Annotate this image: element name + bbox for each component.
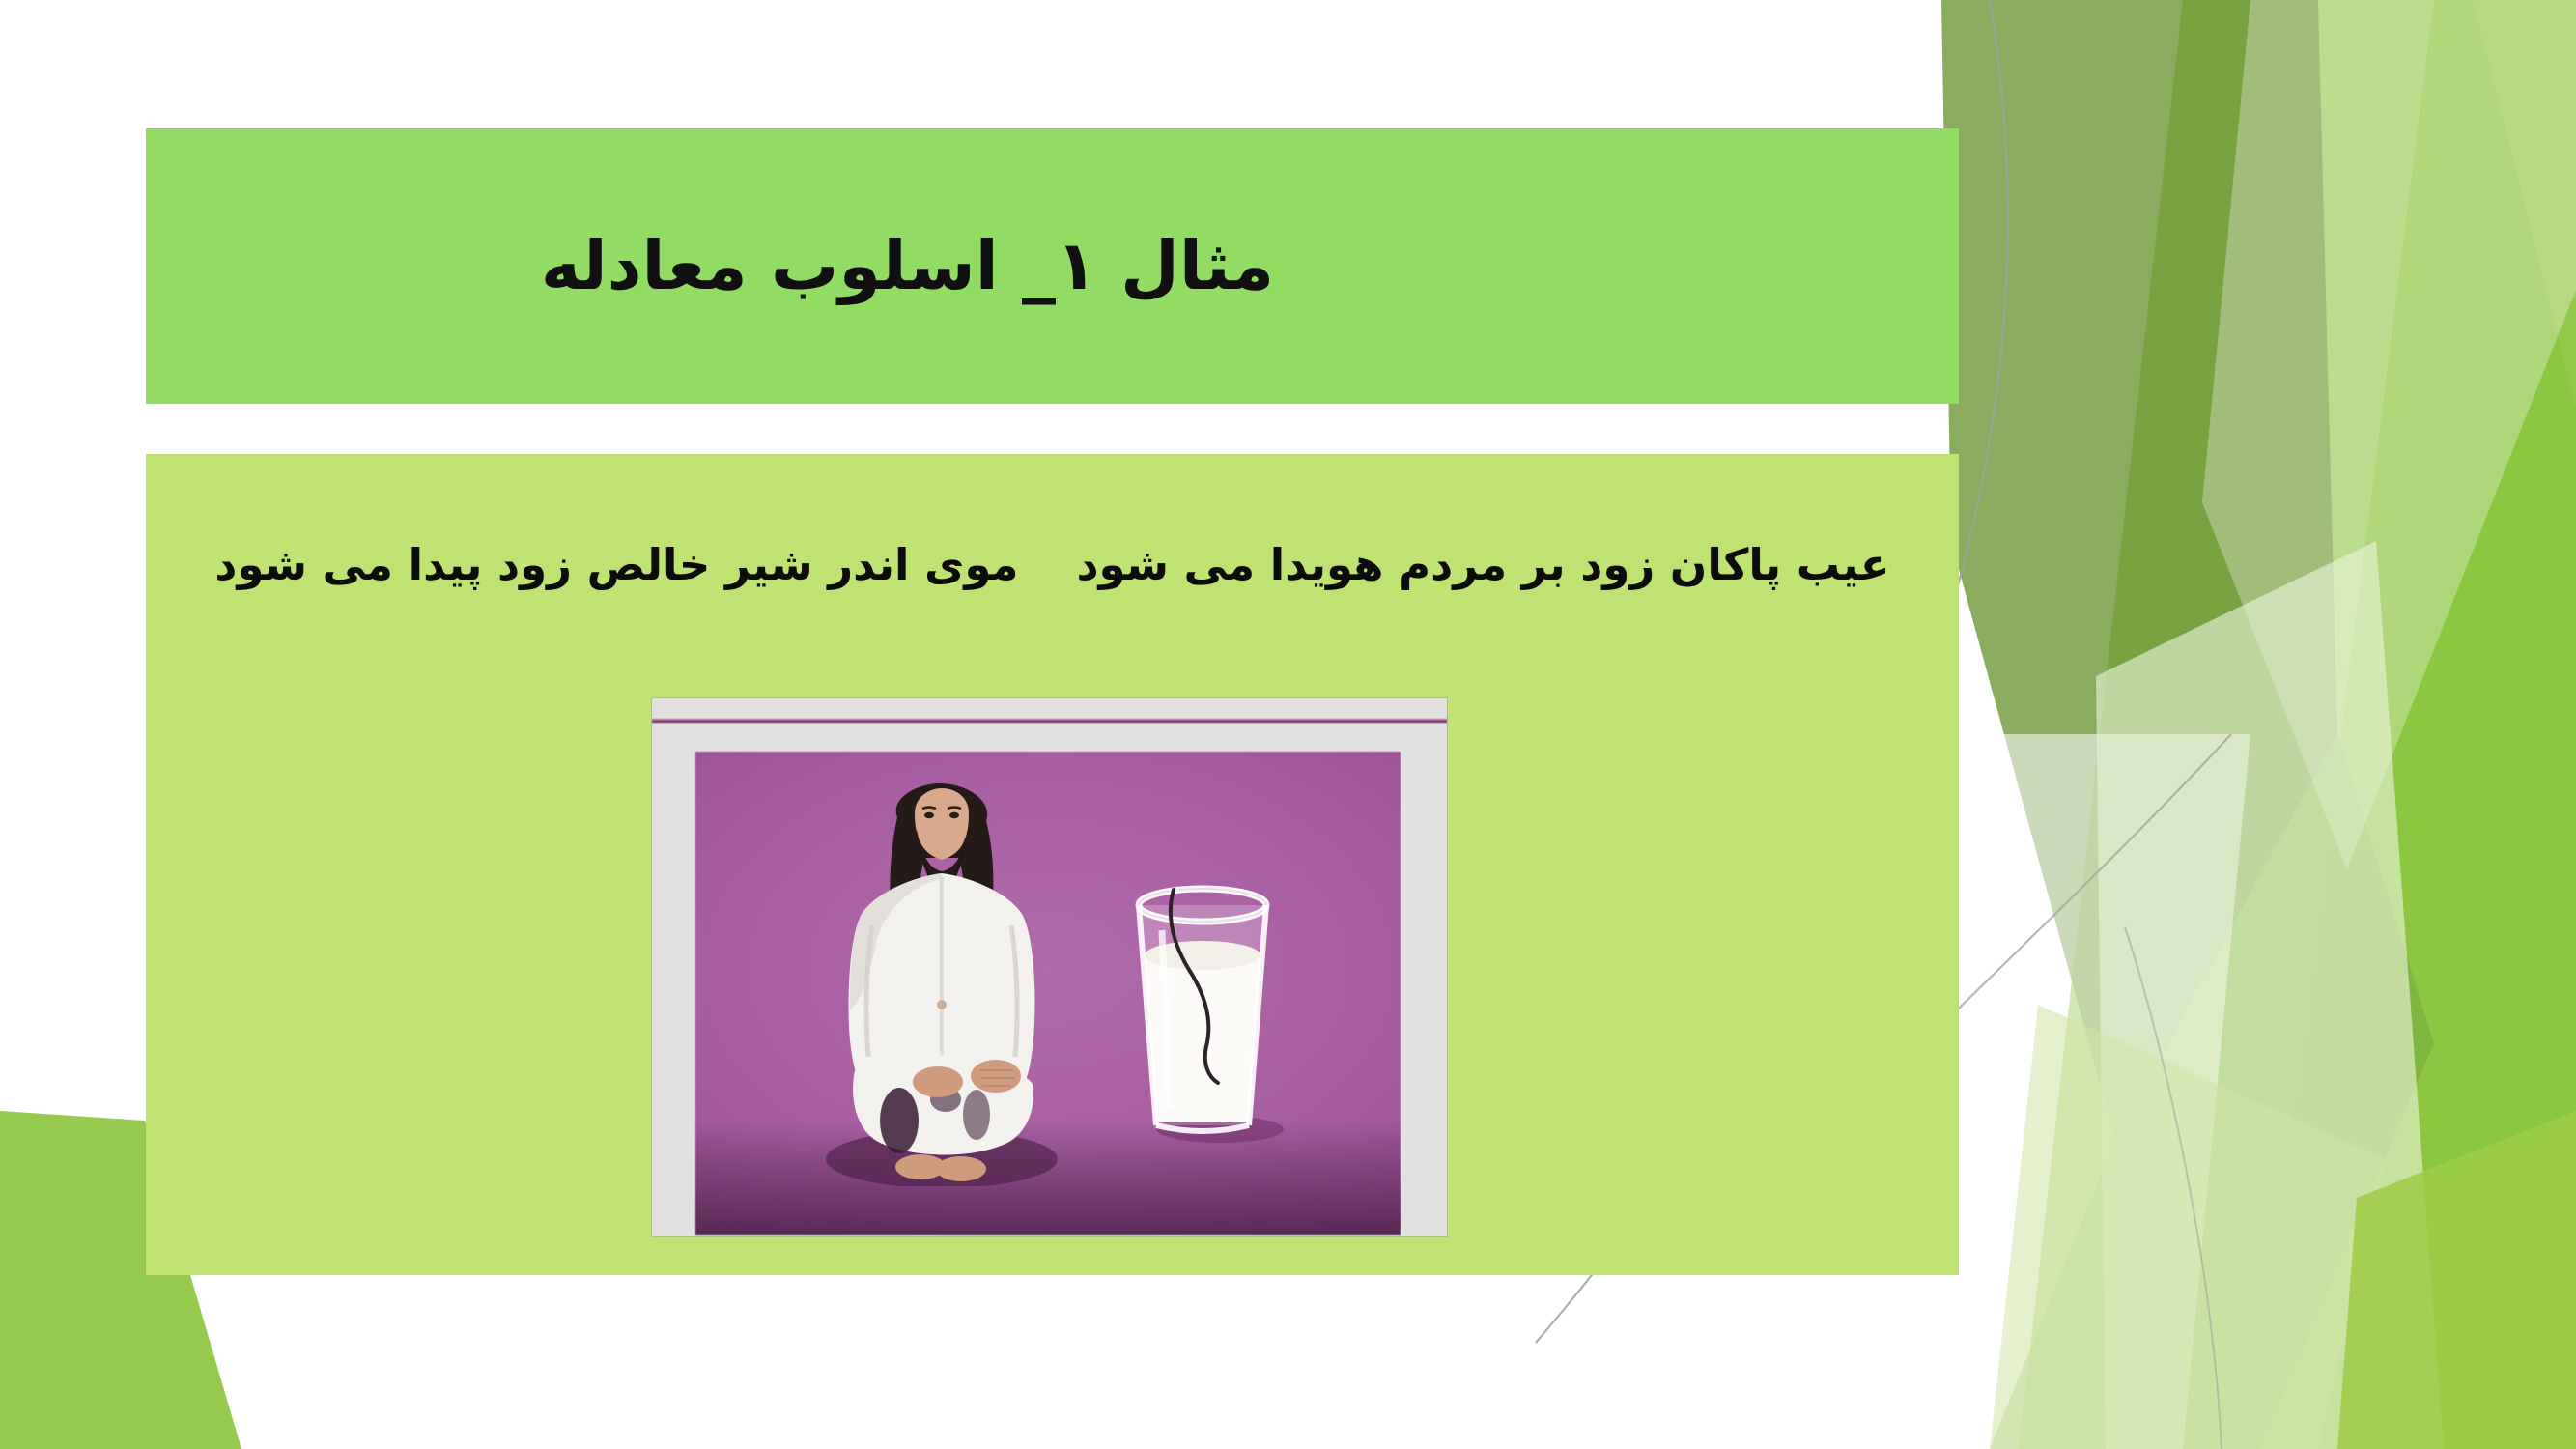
poem-hemistich-second: موی اندر شیر خالص زود پیدا می شود (214, 536, 1018, 595)
photo-scan-rule (652, 718, 1447, 724)
slide-canvas: مثال ۱_ اسلوب معادله عیب پاکان زود بر مر… (0, 0, 2576, 1449)
poem-hemistich-first: عیب پاکان زود بر مردم هویدا می شود (1076, 536, 1889, 595)
slide-title-bar: مثال ۱_ اسلوب معادله (146, 128, 1959, 404)
decor-shape-pale-lower (1922, 734, 2250, 1449)
decor-shape-light-upper (2202, 0, 2576, 869)
decor-hairline-3 (2125, 927, 2222, 1449)
page-title: مثال ۱_ اسلوب معادله (541, 227, 1274, 305)
illustration-photo (652, 698, 1447, 1236)
decor-shape-right-mid (2019, 0, 2576, 1449)
glass-of-milk (1106, 872, 1299, 1152)
decor-shape-white-notch (2337, 1111, 2576, 1449)
decor-shape-dark-diagonal (1941, 0, 2337, 1140)
decor-shape-pale-green (2096, 541, 2444, 1449)
decor-shape-right-base (2250, 0, 2576, 1449)
slide-content-box: عیب پاکان زود بر مردم هویدا می شود موی ا… (146, 454, 1959, 1275)
seated-man-figure (797, 781, 1077, 1186)
poem-couplet: عیب پاکان زود بر مردم هویدا می شود موی ا… (146, 536, 1959, 595)
decor-shape-mint-sliver (1990, 1005, 2386, 1449)
decor-shape-dark-lower (1990, 734, 2434, 1449)
